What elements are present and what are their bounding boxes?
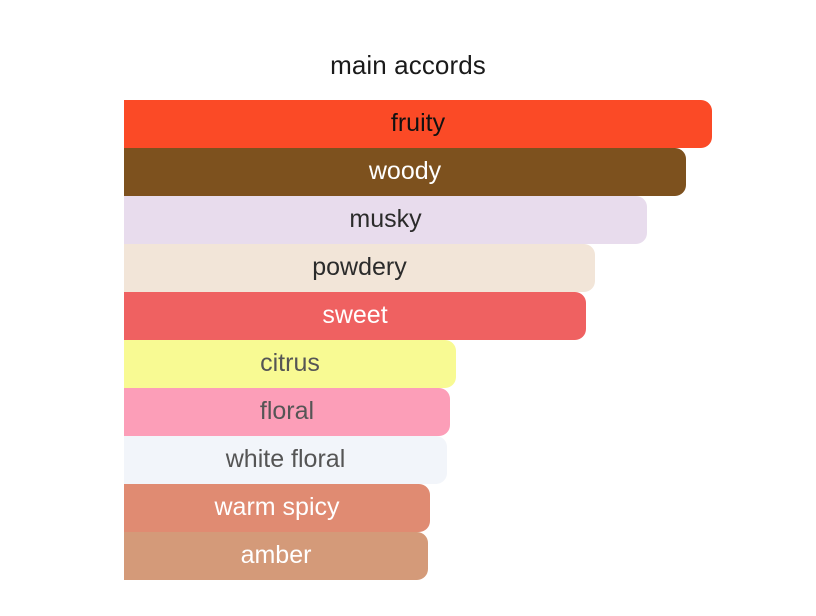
accord-bar-row: amber xyxy=(124,532,784,580)
chart-title: main accords xyxy=(0,50,816,81)
accord-bar-label: musky xyxy=(349,207,421,234)
accord-bar-row: woody xyxy=(124,148,784,196)
accord-bar-row: sweet xyxy=(124,292,784,340)
accord-bar-label: citrus xyxy=(260,351,320,378)
accord-bar-row: musky xyxy=(124,196,784,244)
accord-bar[interactable]: white floral xyxy=(124,436,447,484)
accord-bar-row: floral xyxy=(124,388,784,436)
accord-bar[interactable]: citrus xyxy=(124,340,456,388)
accord-bar-label: white floral xyxy=(226,447,346,474)
accord-bar-list: fruitywoodymuskypowderysweetcitrusfloral… xyxy=(124,100,784,580)
accord-bar-label: warm spicy xyxy=(214,495,339,522)
accord-bar-row: powdery xyxy=(124,244,784,292)
accord-bar-label: floral xyxy=(260,399,314,426)
accord-bar[interactable]: sweet xyxy=(124,292,586,340)
accord-bar[interactable]: floral xyxy=(124,388,450,436)
accord-bar-label: sweet xyxy=(322,303,387,330)
accord-bar[interactable]: warm spicy xyxy=(124,484,430,532)
accord-bar[interactable]: musky xyxy=(124,196,647,244)
accord-bar-label: powdery xyxy=(312,255,407,282)
accord-bar-label: woody xyxy=(369,159,441,186)
accord-bar-row: citrus xyxy=(124,340,784,388)
accord-bar-row: warm spicy xyxy=(124,484,784,532)
accord-bar-row: fruity xyxy=(124,100,784,148)
main-accords-chart: main accords fruitywoodymuskypowderyswee… xyxy=(0,0,816,616)
accord-bar[interactable]: powdery xyxy=(124,244,595,292)
accord-bar[interactable]: fruity xyxy=(124,100,712,148)
accord-bar[interactable]: amber xyxy=(124,532,428,580)
accord-bar-row: white floral xyxy=(124,436,784,484)
accord-bar-label: fruity xyxy=(391,111,445,138)
accord-bar[interactable]: woody xyxy=(124,148,686,196)
accord-bar-label: amber xyxy=(241,543,312,570)
